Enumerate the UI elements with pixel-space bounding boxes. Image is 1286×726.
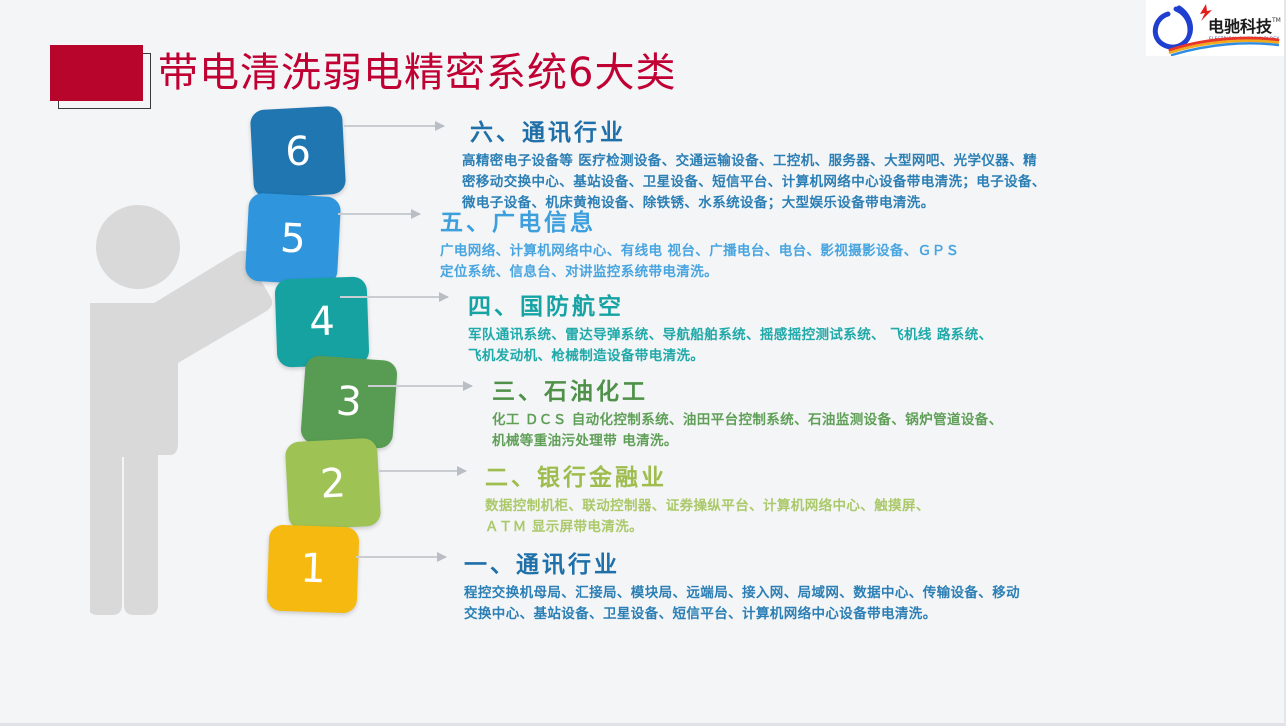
section-6-heading: 六、通讯行业 xyxy=(470,113,1192,147)
section-5-line-1: 广电网络、计算机网络中心、有线电 视台、广播电台、电台、影视摄影设备、ＧＰＳ xyxy=(440,241,1190,262)
section-2-line-1: 数据控制机柜、联动控制器、证券操纵平台、计算机网络中心、触摸屏、 xyxy=(485,496,1165,517)
section-5-line-2: 定位系统、信息台、对讲监控系统带电清洗。 xyxy=(440,262,1190,283)
section-6-line-1: 高精密电子设备等 医疗检测设备、交通运输设备、工控机、服务器、大型网吧、光学仪器… xyxy=(462,151,1192,172)
connector-arrow-4 xyxy=(340,296,448,298)
step-block-3[interactable]: 3 xyxy=(300,355,398,449)
section-2-body: 数据控制机柜、联动控制器、证券操纵平台、计算机网络中心、触摸屏、 ＡＴＭ 显示屏… xyxy=(485,496,1165,538)
connector-arrow-6 xyxy=(344,125,444,127)
svg-text:TM: TM xyxy=(1271,17,1281,24)
section-3: 三、石油化工 化工 ＤＣＳ 自动化控制系统、油田平台控制系统、石油监测设备、锅炉… xyxy=(492,372,1192,452)
step-block-6[interactable]: 6 xyxy=(250,106,346,199)
step-block-2[interactable]: 2 xyxy=(285,438,381,531)
section-1-heading: 一、通讯行业 xyxy=(464,545,1204,579)
step-block-4[interactable]: 4 xyxy=(274,276,369,367)
section-3-line-1: 化工 ＤＣＳ 自动化控制系统、油田平台控制系统、石油监测设备、锅炉管道设备、 xyxy=(492,410,1192,431)
section-1-line-1: 程控交换机母局、汇接局、模块局、远端局、接入网、局域网、数据中心、传输设备、移动 xyxy=(464,583,1204,604)
section-3-body: 化工 ＤＣＳ 自动化控制系统、油田平台控制系统、石油监测设备、锅炉管道设备、 机… xyxy=(492,410,1192,452)
section-1-body: 程控交换机母局、汇接局、模块局、远端局、接入网、局域网、数据中心、传输设备、移动… xyxy=(464,583,1204,625)
section-6-line-2: 密移动交换中心、基站设备、卫星设备、短信平台、计算机网络中心设备带电清洗；电子设… xyxy=(462,172,1192,193)
section-5-heading: 五、广电信息 xyxy=(440,203,1190,237)
slide-canvas: 电驰科技 ELECTRICAL ON TECHNOLOGY TM 带电清洗弱电精… xyxy=(0,0,1286,726)
section-4: 四、国防航空 军队通讯系统、雷达导弹系统、导航船舶系统、摇感摇控测试系统、 飞机… xyxy=(468,287,1198,367)
connector-arrow-3 xyxy=(368,385,472,387)
logo-graphic: 电驰科技 ELECTRICAL ON TECHNOLOGY TM xyxy=(1146,0,1284,56)
section-1-line-2: 交换中心、基站设备、卫星设备、短信平台、计算机网络中心设备带电清洗。 xyxy=(464,604,1204,625)
company-logo: 电驰科技 ELECTRICAL ON TECHNOLOGY TM xyxy=(1146,0,1284,56)
connector-arrow-1 xyxy=(356,556,446,558)
step-block-1[interactable]: 1 xyxy=(267,524,360,613)
svg-text:电驰科技: 电驰科技 xyxy=(1208,17,1273,36)
section-4-line-2: 飞机发动机、枪械制造设备带电清洗。 xyxy=(468,346,1198,367)
page-title: 带电清洗弱电精密系统6大类 xyxy=(158,44,676,102)
connector-arrow-2 xyxy=(378,470,466,472)
section-4-heading: 四、国防航空 xyxy=(468,287,1198,321)
section-5-body: 广电网络、计算机网络中心、有线电 视台、广播电台、电台、影视摄影设备、ＧＰＳ 定… xyxy=(440,241,1190,283)
section-6: 六、通讯行业 高精密电子设备等 医疗检测设备、交通运输设备、工控机、服务器、大型… xyxy=(462,113,1192,214)
step-block-5[interactable]: 5 xyxy=(245,193,341,286)
section-4-line-1: 军队通讯系统、雷达导弹系统、导航船舶系统、摇感摇控测试系统、 飞机线 路系统、 xyxy=(468,325,1198,346)
section-2-heading: 二、银行金融业 xyxy=(485,458,1165,492)
section-5: 五、广电信息 广电网络、计算机网络中心、有线电 视台、广播电台、电台、影视摄影设… xyxy=(440,203,1190,283)
title-square xyxy=(50,45,143,101)
section-2: 二、银行金融业 数据控制机柜、联动控制器、证券操纵平台、计算机网络中心、触摸屏、… xyxy=(485,458,1165,538)
section-1: 一、通讯行业 程控交换机母局、汇接局、模块局、远端局、接入网、局域网、数据中心、… xyxy=(464,545,1204,625)
connector-arrow-5 xyxy=(338,213,420,215)
section-2-line-2: ＡＴＭ 显示屏带电清洗。 xyxy=(485,517,1165,538)
section-3-line-2: 机械等重油污处理带 电清洗。 xyxy=(492,431,1192,452)
section-3-heading: 三、石油化工 xyxy=(492,372,1192,406)
section-4-body: 军队通讯系统、雷达导弹系统、导航船舶系统、摇感摇控测试系统、 飞机线 路系统、 … xyxy=(468,325,1198,367)
